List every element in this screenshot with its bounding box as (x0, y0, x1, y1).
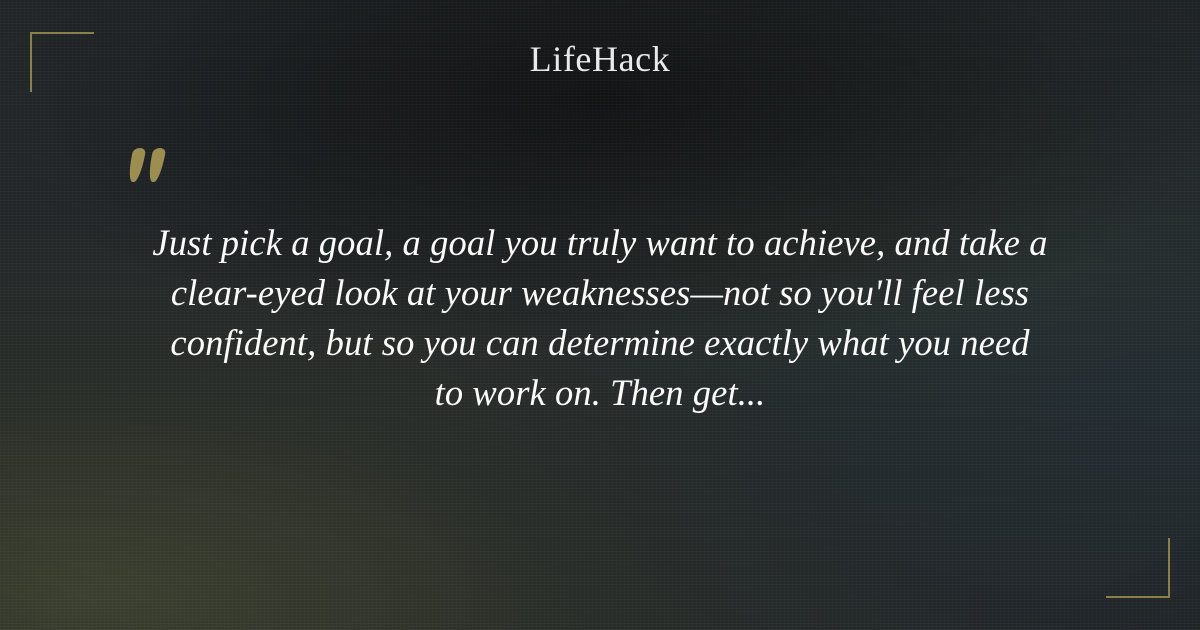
quote-line: Just pick a goal, a goal you truly want … (90, 218, 1110, 268)
quote-line: to work on. Then get... (90, 368, 1110, 418)
quote-text: Just pick a goal, a goal you truly want … (90, 218, 1110, 418)
double-quote-icon (124, 130, 194, 190)
quote-card: LifeHack Just pick a goal, a goal you tr… (0, 0, 1200, 630)
quote-stroke-right (147, 148, 167, 182)
quote-stroke-left (127, 148, 147, 182)
brand-logo: LifeHack (0, 40, 1200, 80)
quote-line: confident, but so you can determine exac… (90, 318, 1110, 368)
quote-line: clear-eyed look at your weaknesses—not s… (90, 268, 1110, 318)
